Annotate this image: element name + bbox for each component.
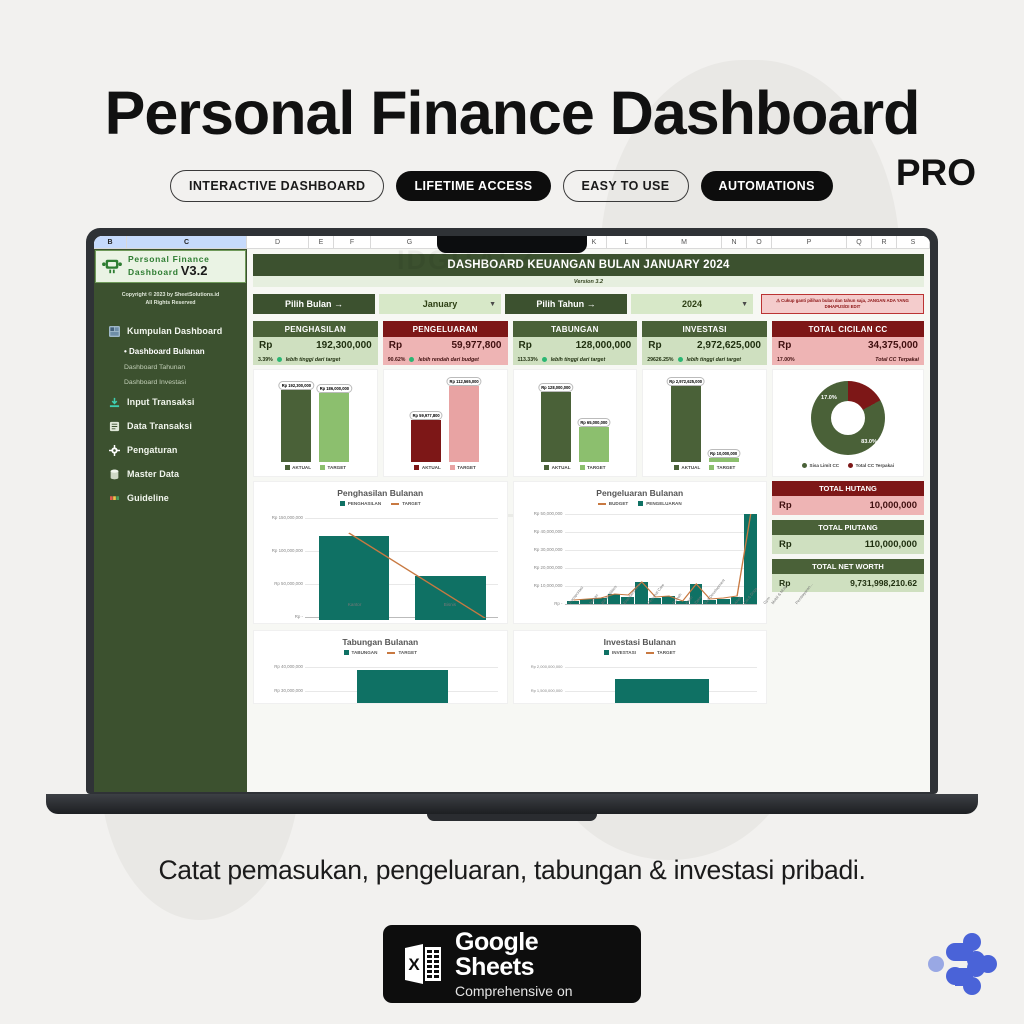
y-tick: Rp -	[519, 601, 563, 606]
laptop-bezel: B C D E F G H I J K L M N O P Q R S	[86, 228, 938, 794]
legend-investasi: INVESTASI	[604, 650, 636, 655]
data-icon	[108, 420, 120, 432]
column-header-d[interactable]: D	[247, 236, 309, 249]
y-tick: Rp 20,000,000	[519, 565, 563, 570]
kpi-currency: Rp	[648, 340, 661, 351]
sidebar-item-input-transaksi[interactable]: Input Transaksi	[94, 390, 247, 414]
column-header-f[interactable]: F	[334, 236, 371, 249]
sidebar-item-dashboard-investasi[interactable]: Dashboard Investasi	[94, 375, 247, 390]
bar-group	[307, 659, 498, 704]
kpi-card-investasi: INVESTASI Rp 2,972,625,000 29626.25% leb…	[642, 321, 767, 365]
mini-plot-area: Rp 2,972,625,000 Rp 10,000,000	[647, 376, 762, 462]
laptop-notch	[437, 236, 587, 253]
sidebar-item-guideline[interactable]: Guideline	[94, 486, 247, 510]
dashboard-icon	[108, 325, 120, 337]
column-header-e[interactable]: E	[309, 236, 334, 249]
legend-line-swatch	[598, 503, 606, 505]
legend-target: TARGET	[391, 501, 421, 506]
legend-swatch	[344, 650, 349, 655]
mini-plot-area: Rp 192,300,000 Rp 186,000,000	[258, 376, 373, 462]
kpi-title: INVESTASI	[642, 321, 767, 337]
bar-aktual: Rp 192,300,000	[281, 390, 311, 462]
app-logo-icon	[101, 257, 123, 275]
kpi-value-row: Rp 128,000,000	[513, 337, 638, 354]
legend-line-swatch	[387, 652, 395, 654]
kpi-subtext: 3.39% lebih tinggi dari target	[253, 354, 378, 365]
legend-pengeluaran: PENGELUARAN	[638, 501, 681, 506]
badge-title: Google Sheets	[455, 930, 621, 980]
mini-plot-area: Rp 59,977,800 Rp 112,565,000	[388, 376, 503, 462]
bar-target: Rp 65,000,000	[579, 427, 609, 462]
bar-tabungan	[357, 670, 448, 704]
chart-kpi-investasi-mini: Rp 2,972,625,000 Rp 10,000,000 AKTUAL TA…	[642, 369, 767, 477]
kpi-title: TOTAL CICILAN CC	[772, 321, 924, 337]
column-header-l[interactable]: L	[607, 236, 647, 249]
laptop-mockup: B C D E F G H I J K L M N O P Q R S	[86, 228, 938, 821]
year-filter-label: Pilih Tahun →	[505, 294, 627, 314]
logo-version: V3.2	[181, 264, 208, 278]
bar-aktual: Rp 2,972,625,000	[671, 386, 701, 462]
kpi-amount: 128,000,000	[576, 340, 632, 351]
summary-title: TOTAL PIUTANG	[772, 520, 924, 535]
bar-value-label: Rp 59,977,800	[410, 411, 443, 420]
kpi-percent: 29626.25%	[647, 357, 673, 363]
column-header-m[interactable]: M	[647, 236, 722, 249]
main-chart-row: Penghasilan Bulanan PENGHASILAN TARGET R…	[253, 481, 924, 624]
summary-amount: 110,000,000	[865, 539, 917, 550]
chart-penghasilan-bulanan: Penghasilan Bulanan PENGHASILAN TARGET R…	[253, 481, 508, 624]
summary-value-row: Rp 9,731,998,210.62	[772, 574, 924, 592]
donut-label-sisa: 83.0%	[861, 439, 877, 445]
sidebar-item-kumpulan-dashboard[interactable]: Kumpulan Dashboard	[94, 319, 247, 343]
bottom-chart-row: Tabungan Bulanan TABUNGAN TARGET Rp 40,0…	[253, 630, 924, 704]
legend-swatch	[450, 465, 455, 470]
legend-swatch	[604, 650, 609, 655]
x-label: Kantor	[307, 602, 402, 632]
column-header-s[interactable]: S	[897, 236, 930, 249]
kpi-amount: 2,972,625,000	[697, 340, 761, 351]
feature-pill-automations[interactable]: AUTOMATIONS	[701, 171, 833, 201]
status-dot-icon	[542, 357, 547, 362]
legend-aktual: AKTUAL	[414, 465, 440, 470]
legend-sisa-limit-cc: Sisa Limit CC	[802, 463, 839, 468]
legend-budget: BUDGET	[598, 501, 628, 506]
x-axis-labels: Kantor Bisnis	[307, 602, 498, 632]
y-tick: Rp 50,000,000	[259, 581, 303, 586]
feature-pill-interactive-dashboard[interactable]: INTERACTIVE DASHBOARD	[170, 170, 384, 202]
y-tick: Rp 30,000,000	[519, 547, 563, 552]
summary-card-total-hutang: TOTAL HUTANG Rp 10,000,000	[772, 481, 924, 515]
chart-legend: AKTUAL TARGET	[518, 465, 633, 470]
column-header-o[interactable]: O	[747, 236, 772, 249]
kpi-title: PENGHASILAN	[253, 321, 378, 337]
kpi-card-row: PENGHASILAN Rp 192,300,000 3.39% lebih t…	[253, 321, 924, 365]
kpi-amount: 192,300,000	[316, 340, 372, 351]
sidebar-logo-text: Personal Finance Dashboard V3.2	[128, 255, 210, 278]
legend-target: TARGET	[450, 465, 476, 470]
chart-plot-area: Rp 40,000,000 Rp 30,000,000	[259, 659, 502, 704]
y-tick: Rp 10,000,000	[519, 583, 563, 588]
kpi-note: lebih tinggi dari target	[551, 357, 605, 363]
chart-plot-area: Rp 150,000,000 Rp 100,000,000 Rp 50,000,…	[259, 510, 502, 620]
summary-card-total-net-worth: TOTAL NET WORTH Rp 9,731,998,210.62	[772, 559, 924, 592]
kpi-percent: 3.39%	[258, 357, 273, 363]
column-header-b[interactable]: B	[94, 236, 127, 249]
chart-title: Pengeluaran Bulanan	[519, 488, 762, 498]
kpi-currency: Rp	[259, 340, 272, 351]
kpi-amount: 34,375,000	[868, 340, 918, 351]
chart-plot-area: Rp 2,000,000,000 Rp 1,500,000,000	[519, 659, 762, 704]
legend-swatch	[848, 463, 853, 468]
chart-kpi-penghasilan-mini: Rp 192,300,000 Rp 186,000,000 AKTUAL TAR…	[253, 369, 378, 477]
year-select-value: 2024	[682, 299, 702, 309]
summary-value-row: Rp 10,000,000	[772, 496, 924, 515]
y-tick: Rp 40,000,000	[519, 529, 563, 534]
kpi-subtext: 90.62% lebih rendah dari budget	[383, 354, 508, 365]
gear-icon	[108, 444, 120, 456]
summary-amount: 9,731,998,210.62	[850, 578, 917, 588]
y-tick: Rp -	[259, 614, 303, 619]
sidebar-item-data-transaksi[interactable]: Data Transaksi	[94, 414, 247, 438]
chart-investasi-bulanan: Investasi Bulanan INVESTASI TARGET Rp 2,…	[513, 630, 768, 704]
kpi-card-penghasilan: PENGHASILAN Rp 192,300,000 3.39% lebih t…	[253, 321, 378, 365]
legend-swatch	[544, 465, 549, 470]
chevron-down-icon: ▼	[489, 301, 496, 308]
kpi-percent: 90.62%	[388, 357, 406, 363]
status-dot-icon	[277, 357, 282, 362]
y-tick: Rp 150,000,000	[259, 515, 303, 520]
chart-pengeluaran-bulanan: Pengeluaran Bulanan BUDGET PENGELUARAN R…	[513, 481, 768, 624]
donut-label-terpakai: 17.0%	[821, 395, 837, 401]
legend-swatch	[340, 501, 345, 506]
chart-legend: TABUNGAN TARGET	[259, 650, 502, 655]
summary-card-total-piutang: TOTAL PIUTANG Rp 110,000,000	[772, 520, 924, 554]
legend-line-swatch	[391, 503, 399, 505]
chart-kpi-pengeluaran-mini: Rp 59,977,800 Rp 112,565,000 AKTUAL TARG…	[383, 369, 508, 477]
legend-target: TARGET	[580, 465, 606, 470]
y-tick: Rp 1,500,000,000	[519, 688, 563, 693]
column-header-q[interactable]: Q	[847, 236, 872, 249]
sidebar-item-label: Master Data	[127, 469, 179, 479]
legend-target: TARGET	[646, 650, 676, 655]
legend-aktual: AKTUAL	[674, 465, 700, 470]
kpi-mini-chart-row: Rp 192,300,000 Rp 186,000,000 AKTUAL TAR…	[253, 369, 924, 477]
summary-value-row: Rp 110,000,000	[772, 535, 924, 554]
sidebar-item-label: Kumpulan Dashboard	[127, 326, 222, 336]
kpi-amount: 59,977,800	[451, 340, 501, 351]
month-filter-label: Pilih Bulan →	[253, 294, 375, 314]
year-select[interactable]: 2024 ▼	[631, 294, 753, 314]
google-sheets-badge: X Google Sheets Comprehensive on	[383, 925, 641, 1003]
kpi-subtext: 17.00% Total CC Terpakai	[772, 354, 924, 365]
bottom-spacer	[772, 630, 924, 704]
bar-aktual: Rp 128,000,000	[541, 392, 571, 462]
filter-warning-note: ⚠ Cukup ganti pilihan bulan dan tahun sa…	[761, 294, 924, 314]
footer-caption: Catat pemasukan, pengeluaran, tabungan &…	[0, 855, 1024, 886]
x-label: Bisnis	[402, 602, 497, 632]
bar-value-label: Rp 2,972,625,000	[666, 377, 705, 386]
svg-text:X: X	[408, 955, 420, 974]
sidebar-item-master-data[interactable]: Master Data	[94, 462, 247, 486]
bar-value-label: Rp 10,000,000	[707, 449, 740, 458]
sidebar-item-pengaturan[interactable]: Pengaturan	[94, 438, 247, 462]
legend-tabungan: TABUNGAN	[344, 650, 378, 655]
spreadsheet-screen: B C D E F G H I J K L M N O P Q R S	[94, 236, 930, 792]
legend-swatch	[709, 465, 714, 470]
status-dot-icon	[409, 357, 414, 362]
sidebar-logo[interactable]: Personal Finance Dashboard V3.2	[95, 250, 246, 283]
column-header-r[interactable]: R	[872, 236, 897, 249]
kpi-card-pengeluaran: PENGELUARAN Rp 59,977,800 90.62% lebih r…	[383, 321, 508, 365]
kpi-value-row: Rp 59,977,800	[383, 337, 508, 354]
bar-target: Rp 112,565,000	[449, 386, 479, 462]
feature-pill-easy-to-use[interactable]: EASY TO USE	[563, 170, 689, 202]
sidebar-item-label: Input Transaksi	[127, 397, 195, 407]
y-tick: Rp 30,000,000	[259, 688, 303, 693]
summary-title: TOTAL NET WORTH	[772, 559, 924, 574]
chart-tabungan-bulanan: Tabungan Bulanan TABUNGAN TARGET Rp 40,0…	[253, 630, 508, 704]
dashboard-panel: IDGITALZ IDGITALZ DASHBOARD KEUANGAN BUL…	[247, 249, 930, 792]
x-axis-labels: Transportasi Makan Bill & Utilities Ente…	[567, 602, 758, 632]
laptop-foot	[427, 814, 597, 821]
guideline-icon	[108, 492, 120, 504]
kpi-value-row: Rp 34,375,000	[772, 337, 924, 354]
y-tick: Rp 100,000,000	[259, 548, 303, 553]
database-icon	[108, 468, 120, 480]
sidebar-item-label: Data Transaksi	[127, 421, 192, 431]
kpi-percent: 17.00%	[777, 357, 795, 363]
kpi-value-row: Rp 2,972,625,000	[642, 337, 767, 354]
kpi-note: Total CC Terpakai	[875, 357, 919, 363]
bar-group	[567, 659, 758, 704]
legend-aktual: AKTUAL	[544, 465, 570, 470]
legend-target: TARGET	[320, 465, 346, 470]
chart-kpi-tabungan-mini: Rp 128,000,000 Rp 65,000,000 AKTUAL TARG…	[513, 369, 638, 477]
brand-logo-icon	[924, 930, 1002, 998]
legend-swatch	[802, 463, 807, 468]
bar-investasi	[615, 679, 710, 704]
chart-legend: INVESTASI TARGET	[519, 650, 762, 655]
chart-title: Tabungan Bulanan	[259, 637, 502, 647]
sidebar-copyright: Copyright © 2023 by SheetSolutions.id Al…	[100, 292, 241, 308]
kpi-note: lebih tinggi dari target	[286, 357, 340, 363]
bar-value-label: Rp 128,000,000	[538, 383, 573, 392]
chart-legend: AKTUAL TARGET	[647, 465, 762, 470]
kpi-card-total-cicilan-cc: TOTAL CICILAN CC Rp 34,375,000 17.00% To…	[772, 321, 924, 365]
chart-title: Investasi Bulanan	[519, 637, 762, 647]
bar-target: Rp 186,000,000	[319, 393, 349, 462]
y-tick: Rp 2,000,000,000	[519, 664, 563, 669]
donut-ring: 17.0% 83.0%	[811, 381, 885, 455]
bar-aktual: Rp 59,977,800	[411, 420, 441, 462]
legend-swatch	[674, 465, 679, 470]
kpi-card-tabungan: TABUNGAN Rp 128,000,000 113.33% lebih ti…	[513, 321, 638, 365]
legend-target: TARGET	[709, 465, 735, 470]
dashboard-version: Version 3.2	[253, 276, 924, 287]
kpi-note: lebih rendah dari budget	[418, 357, 479, 363]
kpi-currency: Rp	[778, 340, 791, 351]
sidebar-item-dashboard-tahunan[interactable]: Dashboard Tahunan	[94, 360, 247, 375]
excel-x-icon: X	[403, 942, 443, 986]
pro-badge: PRO	[896, 152, 976, 194]
bar-value-label: Rp 192,300,000	[279, 381, 314, 390]
y-tick: Rp 50,000,000	[519, 511, 563, 516]
legend-aktual: AKTUAL	[285, 465, 311, 470]
sidebar-item-dashboard-bulanan[interactable]: • Dashboard Bulanan	[94, 343, 247, 360]
page-title: Personal Finance Dashboard	[0, 78, 1024, 148]
legend-swatch	[285, 465, 290, 470]
legend-swatch	[320, 465, 325, 470]
kpi-title: TABUNGAN	[513, 321, 638, 337]
summary-currency: Rp	[779, 500, 792, 511]
month-select-value: January	[423, 299, 458, 309]
column-header-c[interactable]: C	[127, 236, 247, 249]
summary-title: TOTAL HUTANG	[772, 481, 924, 496]
chart-title: Penghasilan Bulanan	[259, 488, 502, 498]
dashboard-banner-title: DASHBOARD KEUANGAN BULAN JANUARY 2024	[253, 254, 924, 276]
feature-pill-list: INTERACTIVE DASHBOARD LIFETIME ACCESS EA…	[170, 170, 833, 202]
bar-target: Rp 10,000,000	[709, 458, 739, 462]
chart-legend: BUDGET PENGELUARAN	[519, 501, 762, 506]
kpi-percent: 113.33%	[518, 357, 538, 363]
summary-amount: 10,000,000	[869, 500, 917, 511]
logo-line-2: Dashboard	[128, 268, 179, 277]
bar-value-label: Rp 65,000,000	[577, 418, 610, 427]
column-header-n[interactable]: N	[722, 236, 747, 249]
legend-target: TARGET	[387, 650, 417, 655]
bar-value-label: Rp 112,565,000	[447, 377, 482, 386]
status-dot-icon	[678, 357, 683, 362]
chart-plot-area: Rp 50,000,000 Rp 40,000,000 Rp 30,000,00…	[519, 510, 762, 606]
badge-text: Google Sheets Comprehensive on	[455, 930, 621, 998]
kpi-title: PENGELUARAN	[383, 321, 508, 337]
legend-line-swatch	[646, 652, 654, 654]
chart-credit-card-donut: 17.0% 83.0% Sisa Limit CC Total CC Terpa…	[772, 369, 924, 477]
app-sidebar: Personal Finance Dashboard V3.2 Copyrigh…	[94, 249, 247, 792]
dashboard-filters: Pilih Bulan → January ▼ Pilih Tahun → 20…	[253, 294, 924, 314]
badge-subtitle: Comprehensive on	[455, 984, 621, 998]
kpi-value-row: Rp 192,300,000	[253, 337, 378, 354]
legend-swatch	[580, 465, 585, 470]
legend-swatch	[414, 465, 419, 470]
laptop-base	[46, 794, 978, 814]
sidebar-item-label: Guideline	[127, 493, 169, 503]
legend-penghasilan: PENGHASILAN	[340, 501, 381, 506]
kpi-subtext: 29626.25% lebih tinggi dari target	[642, 354, 767, 365]
sidebar-nav: Kumpulan Dashboard • Dashboard Bulanan D…	[94, 319, 247, 510]
kpi-subtext: 113.33% lebih tinggi dari target	[513, 354, 638, 365]
sidebar-item-label: Pengaturan	[127, 445, 178, 455]
month-select[interactable]: January ▼	[379, 294, 501, 314]
chart-legend: Sisa Limit CC Total CC Terpakai	[778, 463, 918, 468]
kpi-currency: Rp	[389, 340, 402, 351]
legend-total-cc-terpakai: Total CC Terpakai	[848, 463, 894, 468]
feature-pill-lifetime-access[interactable]: LIFETIME ACCESS	[396, 171, 550, 201]
chevron-down-icon: ▼	[741, 301, 748, 308]
chart-legend: AKTUAL TARGET	[388, 465, 503, 470]
kpi-currency: Rp	[519, 340, 532, 351]
legend-swatch	[638, 501, 643, 506]
column-header-p[interactable]: P	[772, 236, 847, 249]
kpi-note: lebih tinggi dari target	[687, 357, 741, 363]
mini-plot-area: Rp 128,000,000 Rp 65,000,000	[518, 376, 633, 462]
chart-legend: AKTUAL TARGET	[258, 465, 373, 470]
chart-legend: PENGHASILAN TARGET	[259, 501, 502, 506]
bar-value-label: Rp 186,000,000	[317, 384, 352, 393]
donut-plot-area: 17.0% 83.0%	[778, 375, 918, 460]
summary-currency: Rp	[779, 539, 792, 550]
input-icon	[108, 396, 120, 408]
y-tick: Rp 40,000,000	[259, 664, 303, 669]
